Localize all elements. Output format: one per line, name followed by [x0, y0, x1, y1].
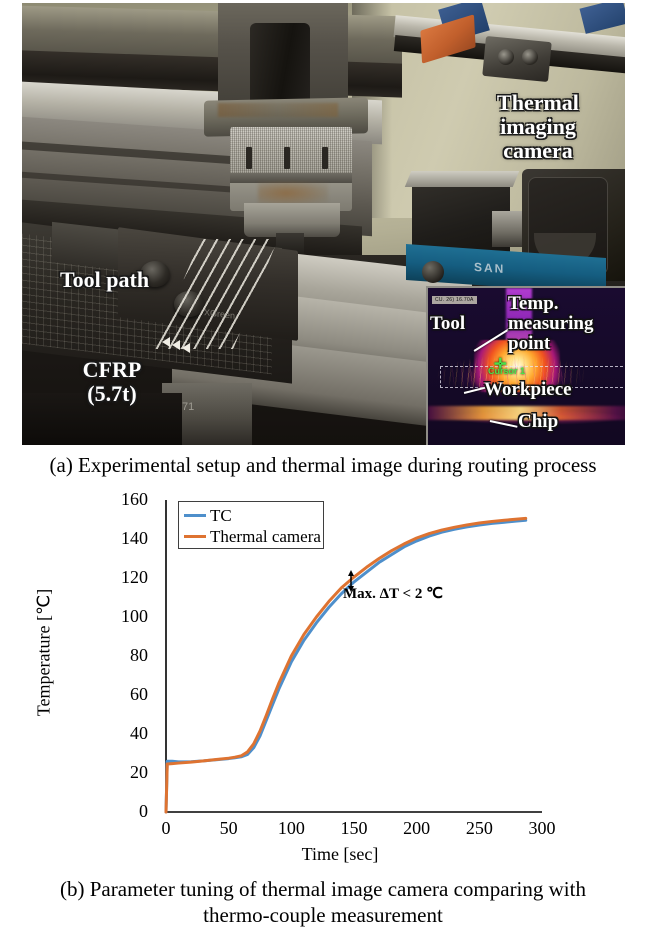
x-tick-0: 0 [141, 818, 191, 839]
y-tick-40: 40 [108, 723, 148, 744]
spindle-flange-staining [218, 103, 338, 117]
table-foot-mark: 71 [182, 401, 194, 413]
ir-label-tool: Tool [430, 314, 465, 334]
legend-swatch-thermal-camera [184, 535, 206, 538]
caption-b-line1: (b) Parameter tuning of thermal image ca… [0, 876, 646, 902]
caption-b-line2: thermo-couple measurement [0, 902, 646, 928]
chart-series-group [166, 518, 526, 812]
y-tick-20: 20 [108, 762, 148, 783]
series-line-thermal-camera [166, 518, 526, 812]
legend-swatch-tc [184, 514, 206, 517]
ir-label-temp-measuring-point: Temp. measuring point [508, 294, 594, 354]
vise-top-plate [405, 171, 519, 187]
vise-handle-knob [422, 261, 444, 283]
tool-path-arrow-1 [162, 337, 170, 347]
y-tick-160: 160 [108, 489, 148, 510]
tool-holder-slot-2 [284, 147, 290, 169]
chart-annotation-max-delta-t: Max. ΔT < 2 ℃ [343, 584, 443, 603]
y-tick-100: 100 [108, 606, 148, 627]
x-tick-150: 150 [329, 818, 379, 839]
x-tick-250: 250 [454, 818, 504, 839]
caption-a: (a) Experimental setup and thermal image… [0, 452, 646, 478]
x-tick-300: 300 [517, 818, 567, 839]
legend-item-tc: TC [184, 505, 318, 526]
ir-readout-text: CU. 26) 16.70A [432, 296, 477, 304]
label-thermal-imaging-camera: Thermal imaging camera [463, 91, 613, 162]
label-cfrp: CFRP (5.7t) [52, 358, 172, 406]
y-axis-label: Temperature [℃] [34, 543, 55, 763]
legend-item-thermal-camera: Thermal camera [184, 526, 318, 547]
tool-holder-slot-3 [322, 147, 328, 169]
x-axis-label: Time [sec] [240, 844, 440, 865]
tool-holder-nose [244, 203, 340, 237]
legend-label-thermal-camera: Thermal camera [210, 527, 321, 547]
chart-legend: TC Thermal camera [178, 501, 324, 549]
tool-holder-slot-1 [246, 147, 252, 169]
label-tool-path: Tool path [60, 268, 149, 292]
y-tick-120: 120 [108, 567, 148, 588]
experimental-setup-photo: SAN XGreen 71 Thermal imaging camera Too… [22, 3, 625, 445]
thermal-image-inset: ✛ Cursor 1 CU. 26) 16.70A Tool Temp. mea… [426, 286, 625, 445]
temperature-time-chart: 020406080100120140160 050100150200250300… [0, 492, 646, 874]
series-line-tc [166, 520, 526, 812]
y-tick-140: 140 [108, 528, 148, 549]
y-tick-80: 80 [108, 645, 148, 666]
tool-holder-staining [258, 181, 328, 205]
vise-brand-text: SAN [474, 260, 505, 276]
x-tick-50: 50 [204, 818, 254, 839]
y-tick-60: 60 [108, 684, 148, 705]
ir-cursor-label: Cursor 1 [488, 366, 525, 376]
legend-label-tc: TC [210, 506, 232, 526]
x-tick-100: 100 [266, 818, 316, 839]
tool-path-arrow-2 [172, 340, 180, 350]
rail-mount-block [482, 36, 552, 82]
tool-path-arrow-3 [182, 343, 190, 353]
ir-label-workpiece: Workpiece [484, 380, 572, 400]
x-tick-200: 200 [392, 818, 442, 839]
chart-plot-svg [0, 492, 646, 874]
ir-label-chip: Chip [518, 412, 558, 432]
caption-b: (b) Parameter tuning of thermal image ca… [0, 876, 646, 929]
